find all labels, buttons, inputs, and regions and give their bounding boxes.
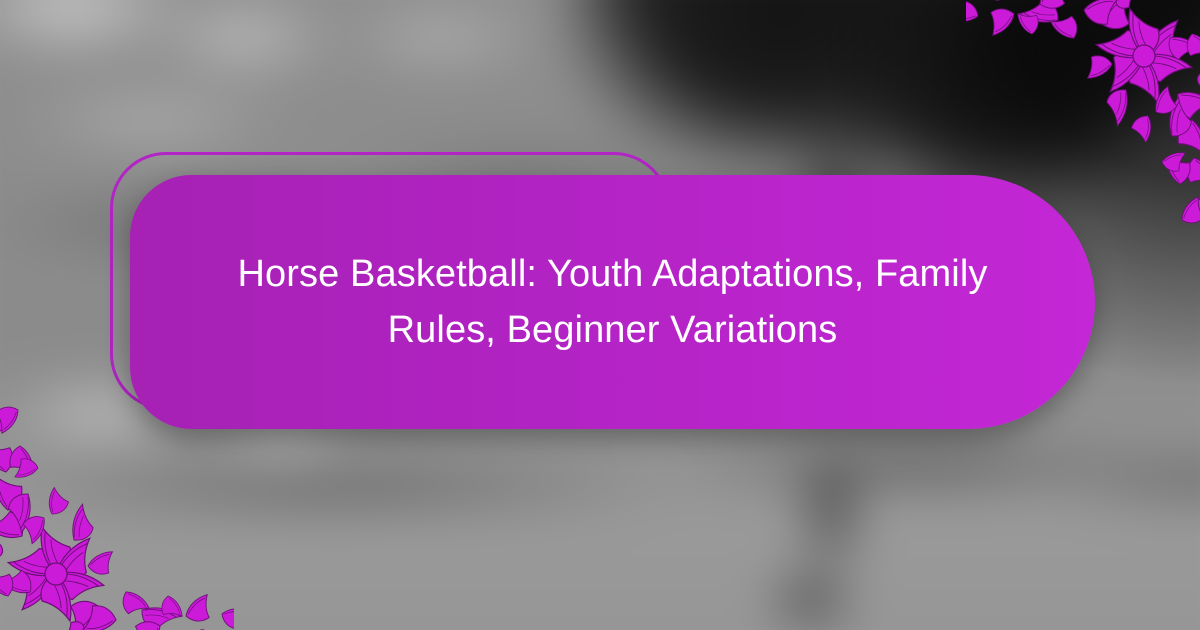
social-card-canvas: Horse Basketball: Youth Adaptations, Fam… bbox=[0, 0, 1200, 630]
title-card: Horse Basketball: Youth Adaptations, Fam… bbox=[130, 175, 1095, 429]
floral-damask-corner-ornament-bottom-left bbox=[0, 396, 234, 630]
page-title: Horse Basketball: Youth Adaptations, Fam… bbox=[173, 246, 1053, 358]
